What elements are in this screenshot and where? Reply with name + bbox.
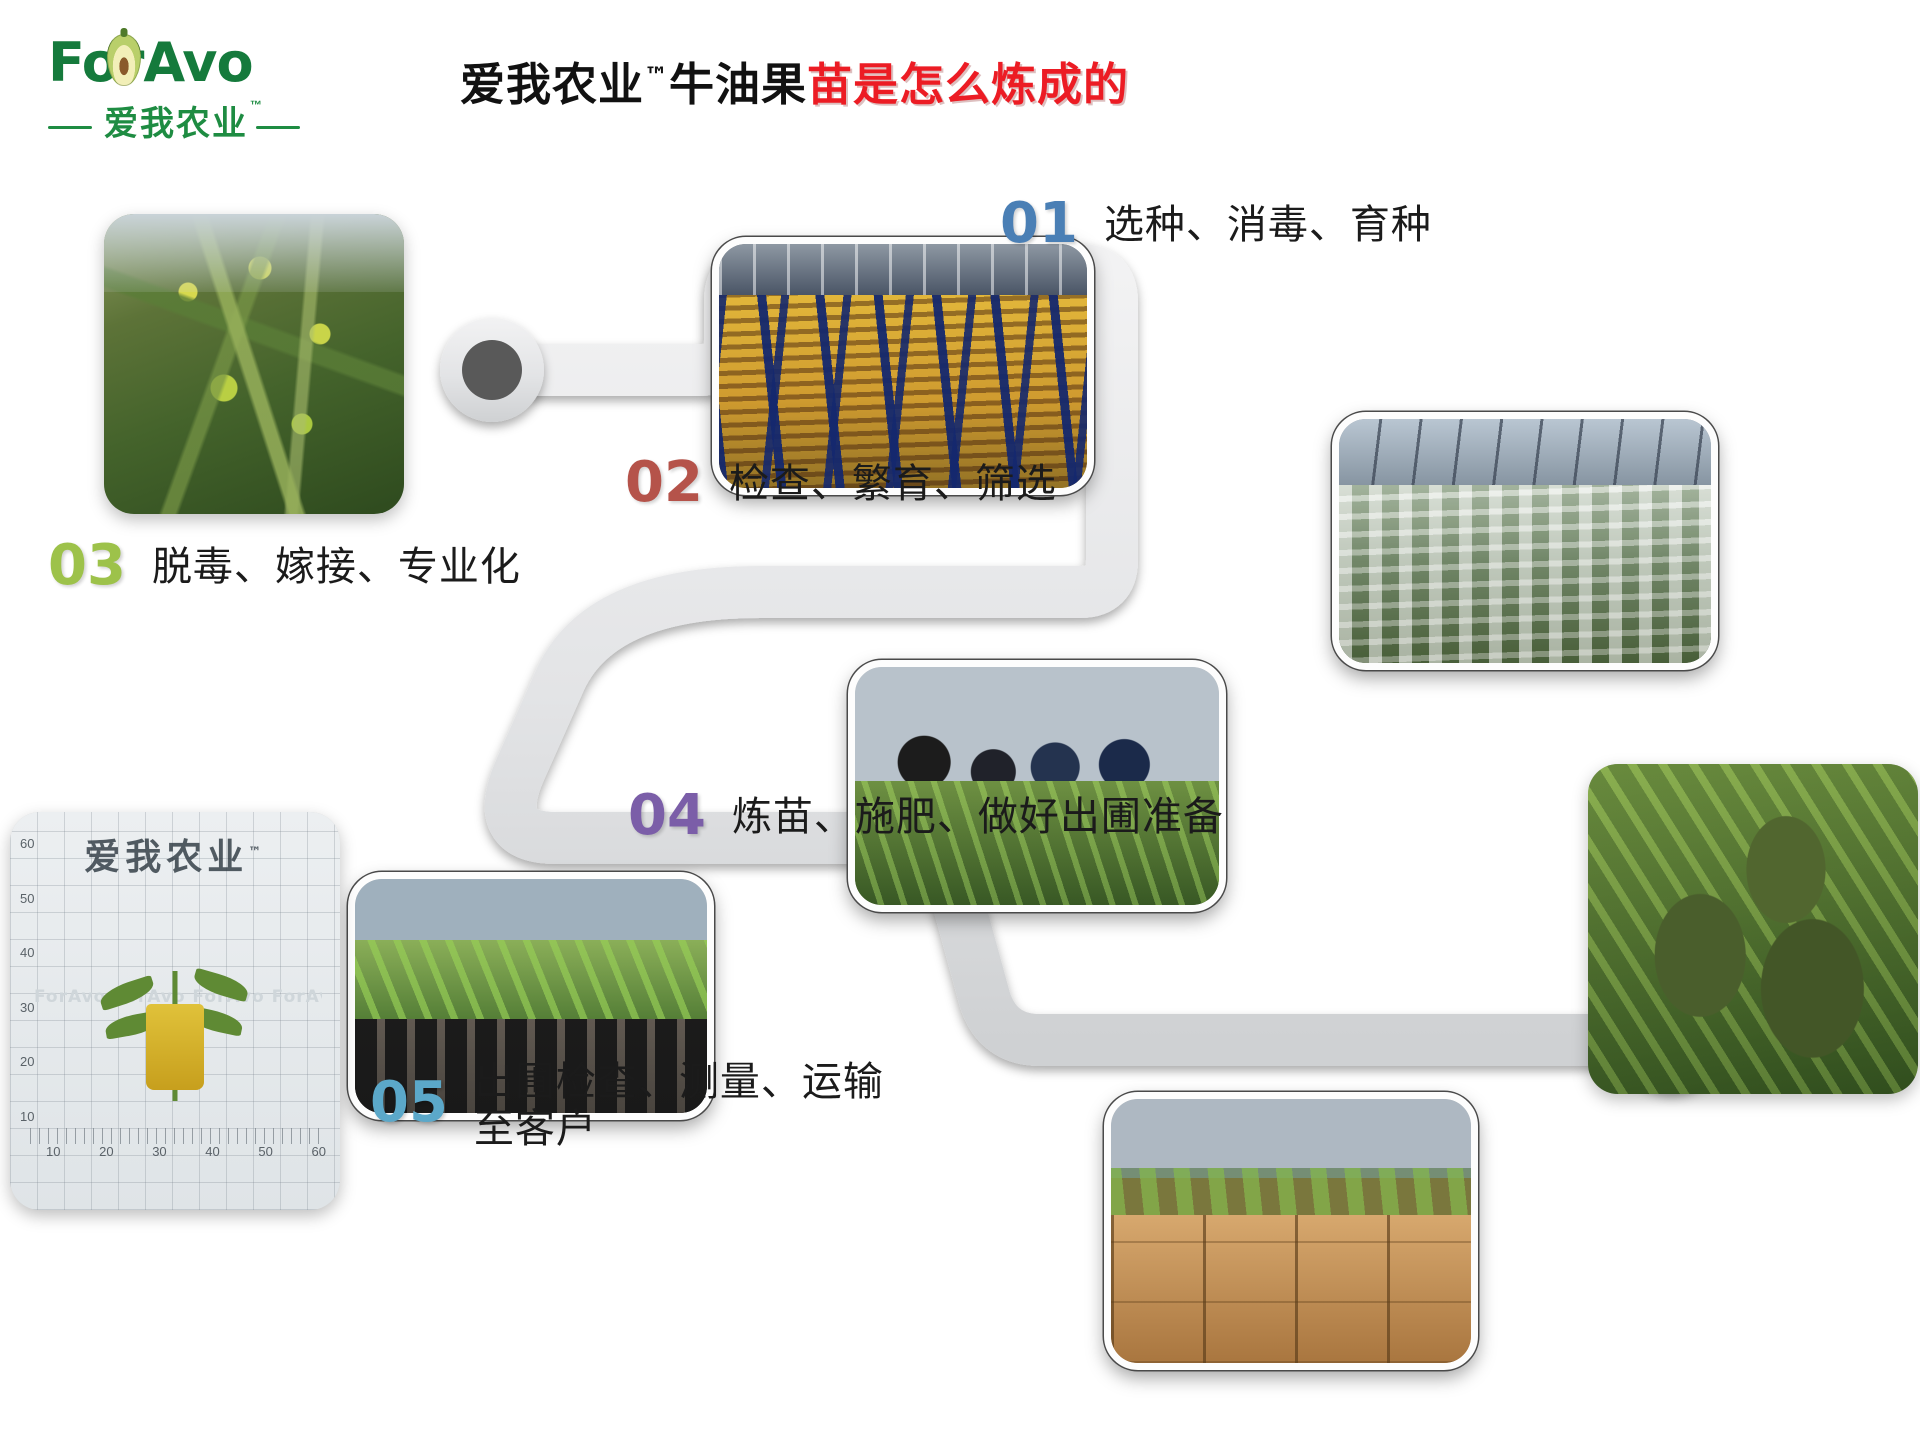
people-photo-caption: 海南爱我农业科技有限公司 <box>855 883 1219 899</box>
logo-chinese-name: 爱我农业 <box>104 96 248 145</box>
step-number-02: 02 <box>625 455 703 511</box>
logo-wordmark: ForAvo <box>48 32 298 94</box>
step-number-05: 05 <box>370 1053 448 1131</box>
ruler-scale-bar <box>30 1128 326 1144</box>
page-title: 爱我农业™牛油果苗是怎么炼成的 <box>460 44 1660 108</box>
ruler-y-ticks: 10 20 30 40 50 60 <box>20 836 56 1124</box>
step-number-03: 03 <box>48 538 126 594</box>
logo-subtitle: 爱我农业 ™ <box>48 96 308 140</box>
carton-side-label: ForAvo <box>1407 1257 1459 1274</box>
seedling-measurement-ruler-photo: 爱我农业™ 10 20 30 40 50 60 ForAvo ForAvo Fo… <box>10 812 340 1210</box>
avocado-flower-photo-image <box>104 214 404 514</box>
seedling-leaf <box>191 968 250 1003</box>
step-label-03: 03 脱毒、嫁接、专业化 <box>48 538 521 594</box>
page-title-red: 苗是怎么炼成的 <box>807 58 1129 111</box>
step-text-01: 选种、消毒、育种 <box>1104 196 1432 249</box>
ruler-x-ticks: 10 20 30 40 50 60 <box>46 1144 326 1166</box>
step-label-05: 05 出圃检查、测量、运输 至客户 <box>370 1053 884 1153</box>
seedling-pot <box>146 1004 204 1090</box>
staff-inspecting-seedlings-photo-image: 海南爱我农业科技有限公司 <box>855 667 1219 905</box>
step-number-01: 01 <box>1000 196 1078 252</box>
avocado-flower-photo <box>104 214 404 514</box>
infographic-canvas: ForAvo 爱我农业 ™ 爱我农业™牛油果苗是怎么炼成的 <box>0 0 1920 1440</box>
flow-start-node-dot <box>462 340 522 400</box>
step-label-02: 02 检查、繁育、筛选 <box>625 455 1057 511</box>
seed-tray-greenhouse-photo-image <box>719 244 1087 488</box>
page-title-black-2: 牛油果 <box>669 58 807 111</box>
carton-weight: 25KG <box>1233 1288 1353 1299</box>
seedling-measurement-ruler-photo-image: 爱我农业™ 10 20 30 40 50 60 ForAvo ForAvo Fo… <box>10 812 340 1210</box>
grafting-bags-greenhouse-photo <box>1332 412 1718 670</box>
page-title-tm: ™ <box>644 62 669 90</box>
step-number-04: 04 <box>628 788 706 844</box>
page-title-black: 爱我农业 <box>460 58 644 111</box>
avocado-fruit-on-tree-photo <box>1588 764 1918 1094</box>
step-text-02: 检查、繁育、筛选 <box>729 455 1057 508</box>
step-label-01: 01 选种、消毒、育种 <box>1000 196 1432 252</box>
packed-cartons-shipping-photo-image: 爱我农业 牛油果嫁接苗 25KG 订购热线：400-615-9916 ForAv… <box>1111 1099 1471 1363</box>
step-text-03: 脱毒、嫁接、专业化 <box>152 538 521 591</box>
logo-rule-right <box>256 126 300 129</box>
carton-label: 爱我农业 <box>1233 1263 1353 1278</box>
logo-rule-left <box>48 126 92 129</box>
flow-start-node <box>440 318 544 422</box>
step-text-04: 炼苗、施肥、做好出圃准备 <box>732 788 1224 841</box>
logo-trademark-symbol: ™ <box>250 98 262 112</box>
brand-logo: ForAvo 爱我农业 ™ <box>48 32 328 142</box>
grafting-bags-greenhouse-photo-image <box>1339 419 1711 663</box>
packed-cartons-shipping-photo: 爱我农业 牛油果嫁接苗 25KG 订购热线：400-615-9916 ForAv… <box>1104 1092 1478 1370</box>
carton-phone: 订购热线：400-615-9916 <box>1233 1299 1353 1308</box>
avocado-fruit-on-tree-photo-image <box>1588 764 1918 1094</box>
step-label-04: 04 炼苗、施肥、做好出圃准备 <box>628 788 1224 844</box>
logo-word-text: ForAvo <box>48 31 253 94</box>
carton-sub-label: 牛油果嫁接苗 <box>1233 1278 1353 1289</box>
step-text-05: 出圃检查、测量、运输 至客户 <box>474 1053 884 1153</box>
staff-inspecting-seedlings-photo: 海南爱我农业科技有限公司 <box>848 660 1226 912</box>
ruler-photo-brand: 爱我农业™ <box>44 828 301 880</box>
